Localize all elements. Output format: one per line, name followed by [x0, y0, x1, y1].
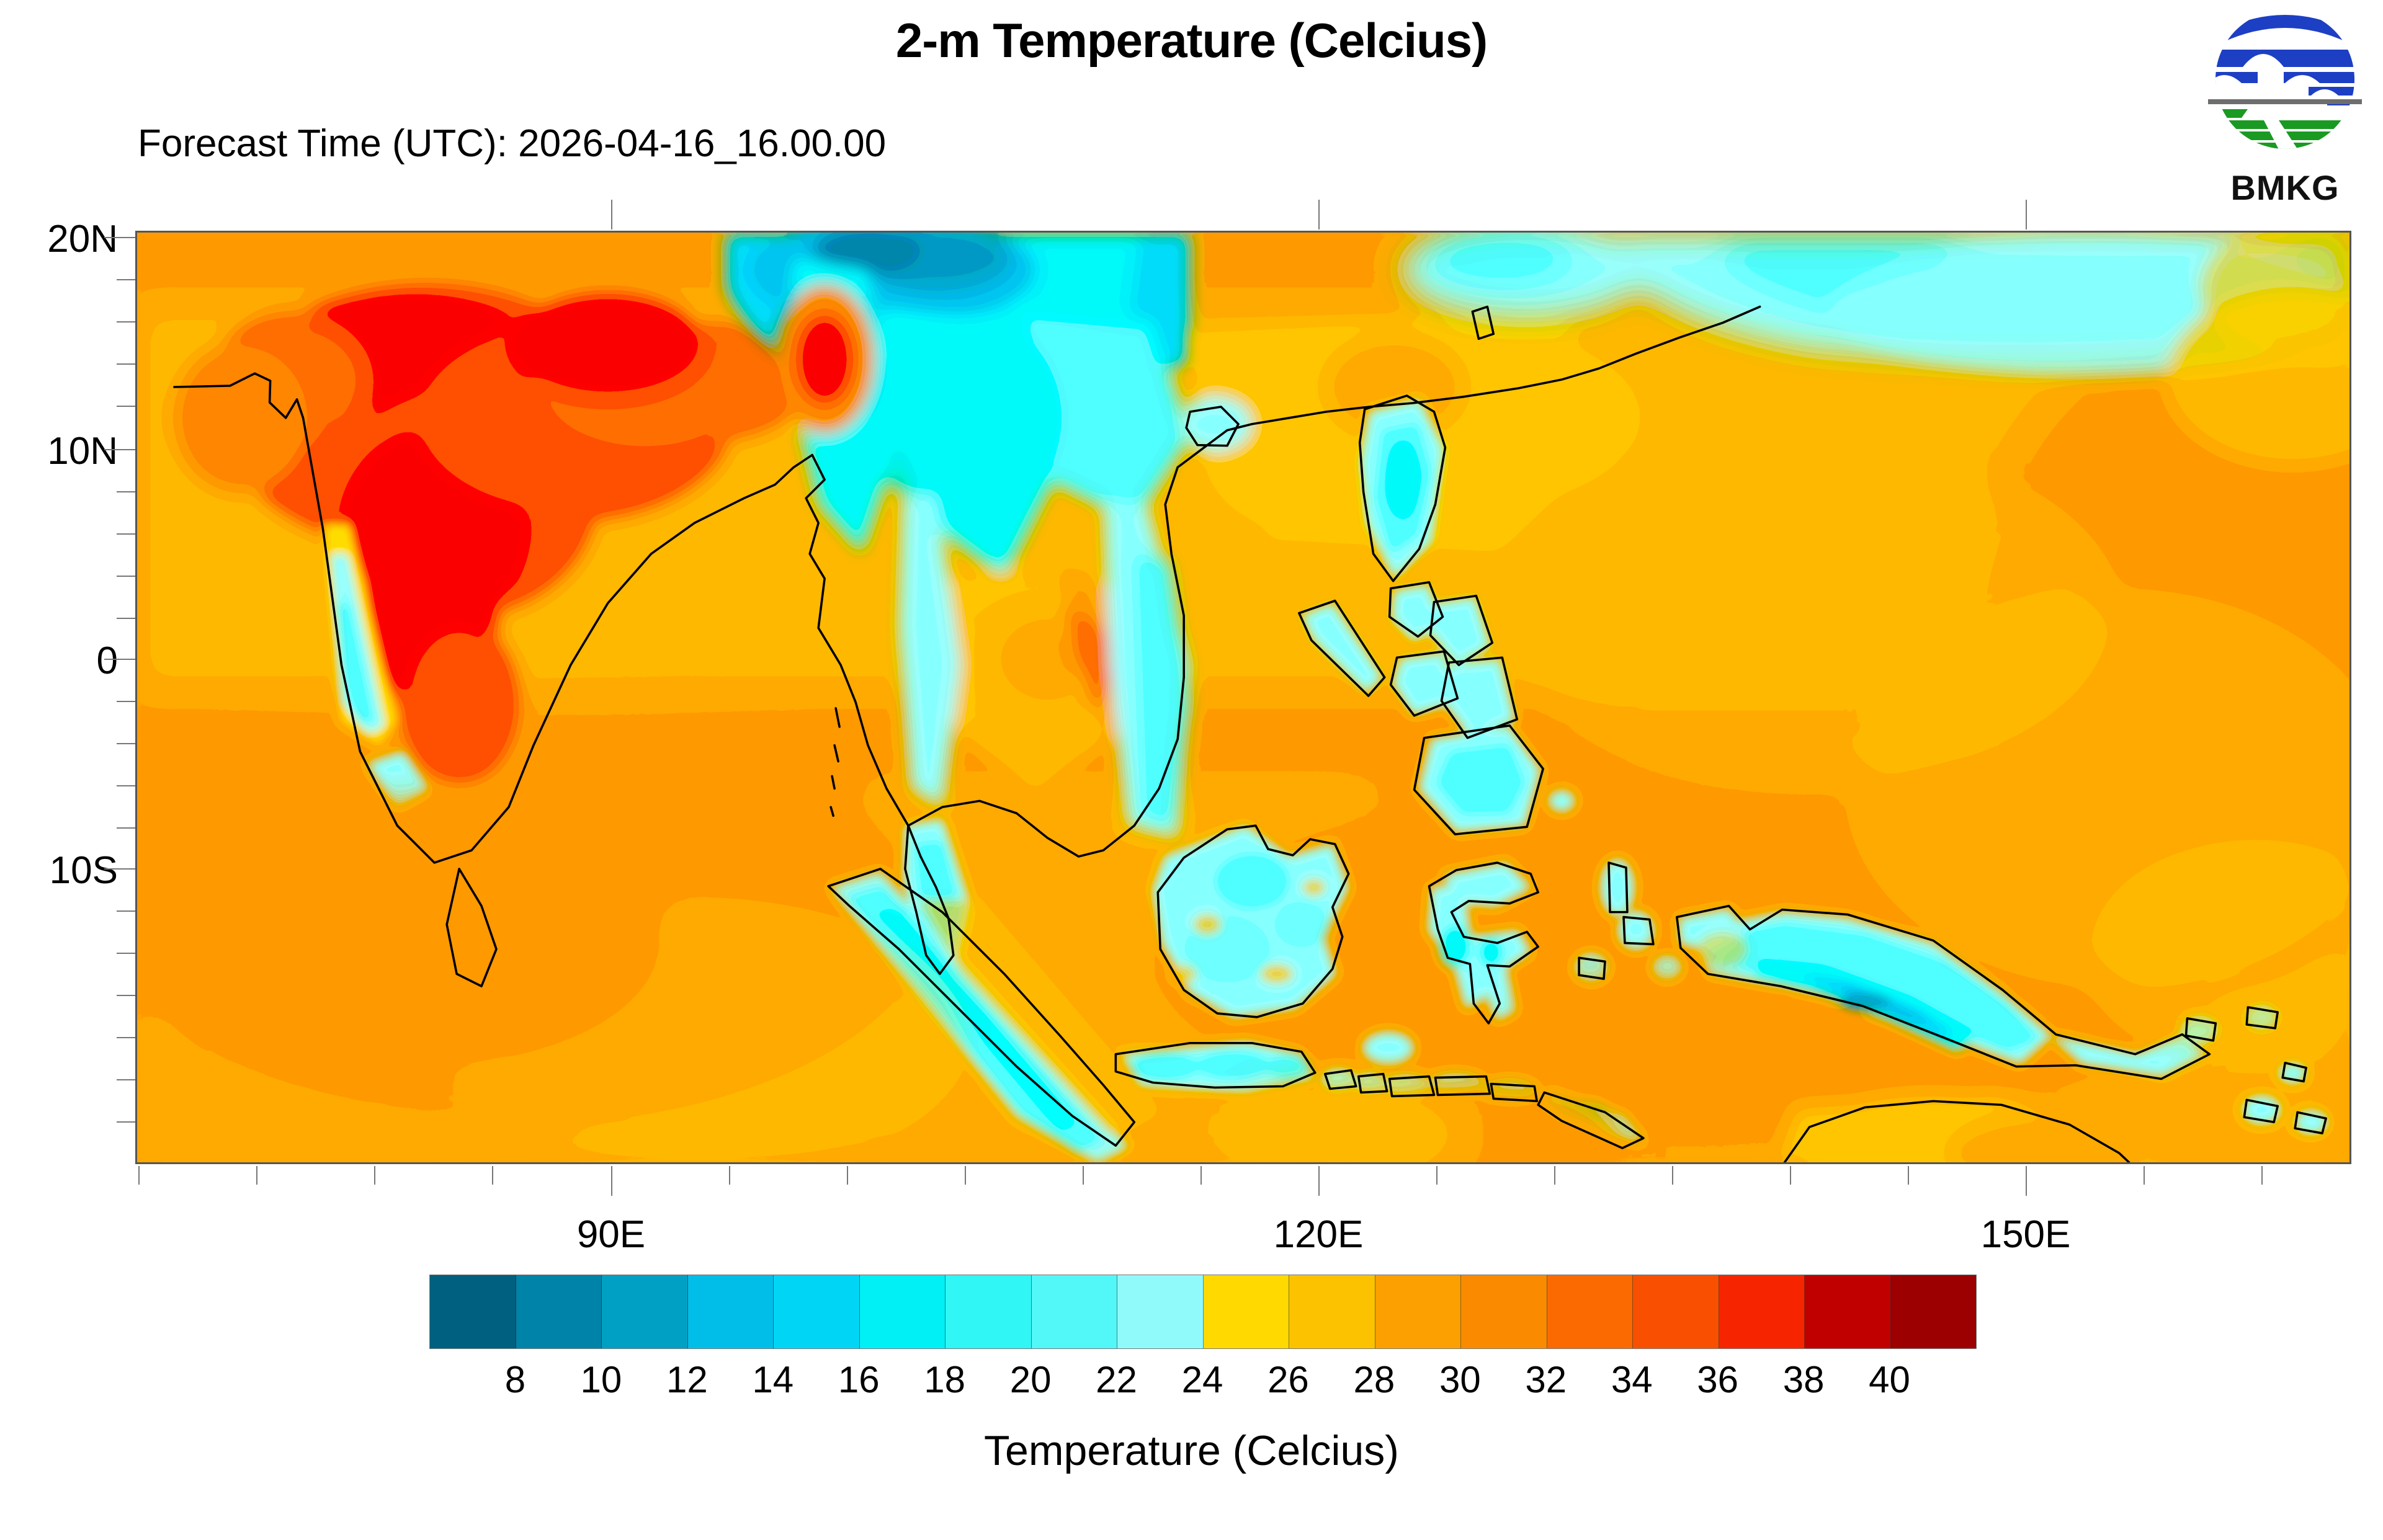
- lat-tick-minor: [117, 995, 136, 996]
- lat-tick-minor: [117, 1079, 136, 1080]
- colorbar-tick-34: 34: [1611, 1358, 1653, 1401]
- lat-label-0: 0: [6, 639, 118, 683]
- lat-tick-minor: [117, 491, 136, 492]
- lon-tick-major-90e: [611, 1166, 612, 1196]
- colorbar-cell-1: [516, 1275, 602, 1348]
- colorbar-cell-14: [1633, 1275, 1719, 1348]
- lon-tick-minor: [256, 1166, 257, 1185]
- lon-tick-minor: [2144, 1166, 2145, 1185]
- colorbar-tick-40: 40: [1869, 1358, 1910, 1401]
- lat-tick-minor: [117, 827, 136, 829]
- lon-tick-minor: [492, 1166, 493, 1185]
- lon-tick-minor: [847, 1166, 848, 1185]
- lat-tick-minor: [117, 701, 136, 702]
- colorbar-cell-0: [430, 1275, 516, 1348]
- lat-tick-major-0: [104, 659, 136, 660]
- lon-tick-minor: [1200, 1166, 1202, 1185]
- lon-tick-major-120e: [1318, 1166, 1320, 1196]
- colorbar-cell-9: [1204, 1275, 1290, 1348]
- colorbar-tick-18: 18: [924, 1358, 965, 1401]
- temperature-map[interactable]: [135, 231, 2351, 1164]
- lat-tick-major-10n: [104, 449, 136, 450]
- lat-label-20n: 20N: [6, 217, 118, 261]
- lat-tick-minor: [117, 743, 136, 744]
- lat-tick-minor: [117, 279, 136, 280]
- bmkg-logo-mark: [2204, 5, 2366, 172]
- lat-tick-minor: [117, 363, 136, 365]
- lon-tick-minor: [1908, 1166, 1909, 1185]
- colorbar-tick-38: 38: [1783, 1358, 1825, 1401]
- bmkg-logo: BMKG: [2204, 5, 2366, 210]
- lon-tick-minor: [1554, 1166, 1555, 1185]
- colorbar-cell-8: [1117, 1275, 1204, 1348]
- lat-tick-minor: [117, 618, 136, 619]
- lat-tick-minor: [117, 406, 136, 407]
- colorbar-cell-16: [1805, 1275, 1891, 1348]
- lat-tick-major-20n: [104, 237, 136, 238]
- lat-tick-minor: [117, 1121, 136, 1123]
- lat-tick-minor: [117, 910, 136, 912]
- lon-tick-minor: [1672, 1166, 1673, 1185]
- lon-tick-top-120e: [1318, 200, 1320, 229]
- colorbar-axis-label: Temperature (Celcius): [0, 1427, 2383, 1475]
- colorbar-tick-12: 12: [666, 1358, 708, 1401]
- lat-tick-minor: [117, 576, 136, 577]
- lon-tick-minor: [965, 1166, 966, 1185]
- lat-label-10n: 10N: [6, 429, 118, 473]
- lon-tick-major-150e: [2026, 1166, 2027, 1196]
- colorbar-cell-7: [1032, 1275, 1118, 1348]
- lon-tick-minor: [2261, 1166, 2263, 1185]
- colorbar-cell-15: [1719, 1275, 1805, 1348]
- colorbar-cell-3: [688, 1275, 774, 1348]
- lat-tick-minor: [117, 953, 136, 954]
- lon-label-150e: 150E: [1933, 1213, 2119, 1257]
- colorbar-cell-10: [1289, 1275, 1375, 1348]
- lon-tick-minor: [1436, 1166, 1437, 1185]
- colorbar-cell-5: [860, 1275, 946, 1348]
- colorbar-cell-17: [1891, 1275, 1977, 1348]
- colorbar-cell-11: [1375, 1275, 1462, 1348]
- lat-label-10s: 10S: [6, 848, 118, 892]
- colorbar-tick-20: 20: [1010, 1358, 1052, 1401]
- colorbar-tick-28: 28: [1354, 1358, 1395, 1401]
- colorbar-tick-10: 10: [581, 1358, 622, 1401]
- lat-tick-major-10s: [104, 868, 136, 870]
- lat-tick-minor: [117, 321, 136, 323]
- lon-label-90e: 90E: [518, 1213, 704, 1257]
- temperature-colorbar[interactable]: [429, 1275, 1977, 1349]
- colorbar-cell-13: [1547, 1275, 1634, 1348]
- bmkg-logo-text: BMKG: [2204, 167, 2366, 208]
- lon-tick-top-150e: [2026, 200, 2027, 229]
- lon-tick-minor: [1790, 1166, 1791, 1185]
- lon-tick-top-90e: [611, 200, 612, 229]
- colorbar-tick-36: 36: [1697, 1358, 1738, 1401]
- bmkg-logo-divider: [2208, 99, 2362, 104]
- colorbar-tick-26: 26: [1268, 1358, 1309, 1401]
- colorbar-cell-6: [946, 1275, 1032, 1348]
- lon-label-120e: 120E: [1225, 1213, 1411, 1257]
- colorbar-tick-16: 16: [838, 1358, 880, 1401]
- lon-tick-minor: [1083, 1166, 1084, 1185]
- temperature-field: [137, 233, 2349, 1162]
- page-title: 2-m Temperature (Celcius): [0, 12, 2383, 69]
- colorbar-tick-14: 14: [752, 1358, 794, 1401]
- lat-tick-minor: [117, 1037, 136, 1038]
- colorbar-cell-2: [602, 1275, 688, 1348]
- colorbar-tick-labels: 810121416182022242628303234363840: [429, 1358, 1975, 1408]
- colorbar-tick-32: 32: [1525, 1358, 1567, 1401]
- lat-tick-minor: [117, 785, 136, 786]
- colorbar-tick-24: 24: [1182, 1358, 1223, 1401]
- lon-tick-minor: [138, 1166, 140, 1185]
- temperature-contours: [137, 233, 2349, 1162]
- colorbar-tick-30: 30: [1439, 1358, 1481, 1401]
- colorbar-tick-22: 22: [1096, 1358, 1137, 1401]
- forecast-time-subtitle: Forecast Time (UTC): 2026-04-16_16.00.00: [138, 122, 886, 166]
- colorbar-cell-12: [1461, 1275, 1547, 1348]
- lon-tick-minor: [374, 1166, 375, 1185]
- lat-tick-minor: [117, 533, 136, 535]
- colorbar-cell-4: [774, 1275, 860, 1348]
- colorbar-tick-8: 8: [505, 1358, 525, 1401]
- lon-tick-minor: [729, 1166, 730, 1185]
